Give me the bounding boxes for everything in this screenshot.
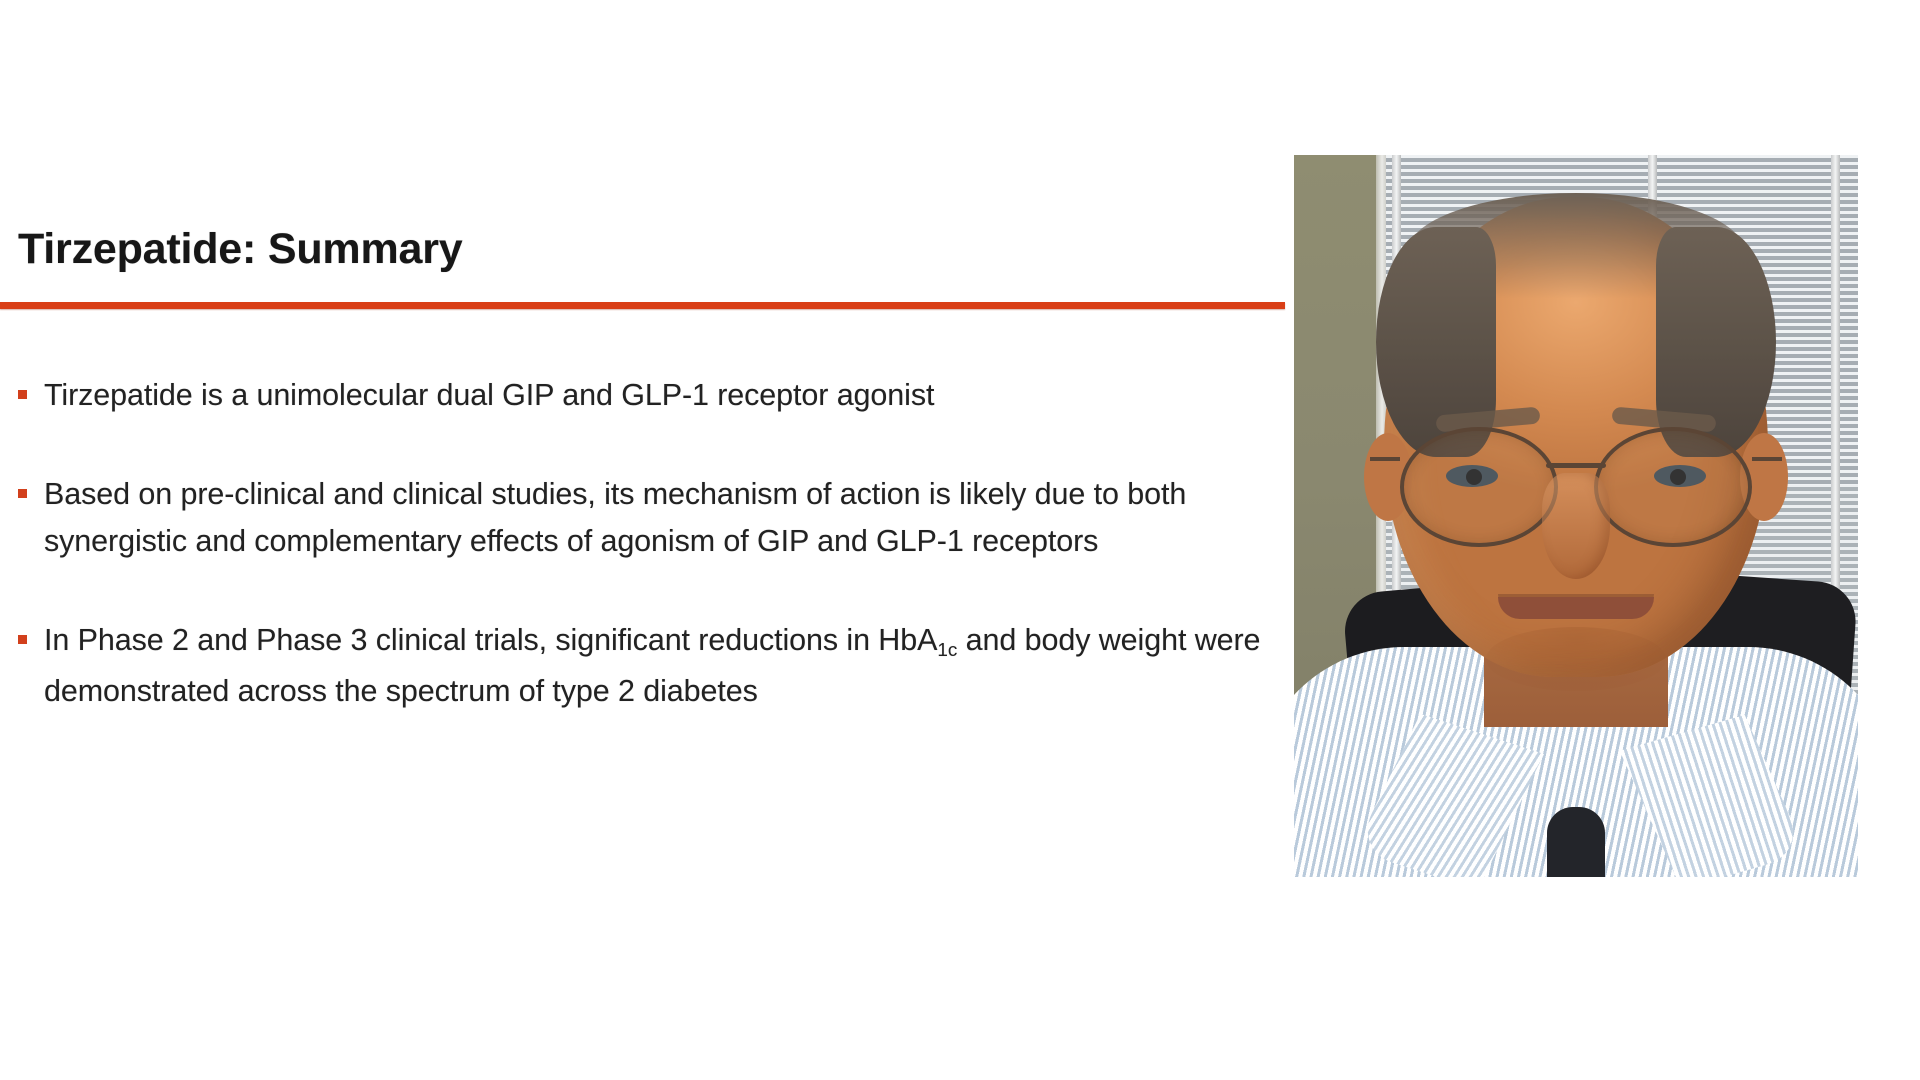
presenter-head: [1384, 197, 1768, 677]
nose: [1542, 473, 1610, 579]
eyeglass-lens-left: [1400, 427, 1558, 547]
list-item: Based on pre-clinical and clinical studi…: [14, 471, 1264, 565]
page-title: Tirzepatide: Summary: [18, 228, 462, 271]
title-underline-rule: [0, 302, 1285, 309]
hba1c-subscript: 1c: [937, 640, 957, 661]
eyeglass-bridge: [1546, 463, 1606, 468]
list-item-text-before: Based on pre-clinical and clinical studi…: [44, 477, 1186, 558]
list-item-text-before: In Phase 2 and Phase 3 clinical trials, …: [44, 623, 937, 657]
square-bullet-icon: [18, 635, 27, 644]
list-item: Tirzepatide is a unimolecular dual GIP a…: [14, 372, 1264, 419]
eyeglass-temple-left: [1370, 457, 1400, 461]
shirt-collar-opening: [1547, 807, 1605, 877]
mouth: [1498, 597, 1654, 619]
list-item-text: In Phase 2 and Phase 3 clinical trials, …: [44, 623, 1260, 708]
shirt-collar-left: [1354, 714, 1544, 877]
square-bullet-icon: [18, 390, 27, 399]
list-item-text-before: Tirzepatide is a unimolecular dual GIP a…: [44, 378, 934, 412]
presentation-stage: Tirzepatide: Summary Tirzepatide is a un…: [0, 0, 1920, 1080]
chin-shading: [1486, 627, 1666, 691]
presenter-video-panel[interactable]: [1294, 155, 1858, 877]
shirt-collar-right: [1620, 715, 1807, 877]
list-item: In Phase 2 and Phase 3 clinical trials, …: [14, 617, 1264, 715]
slide-content-area: Tirzepatide: Summary Tirzepatide is a un…: [0, 150, 1290, 940]
square-bullet-icon: [18, 489, 27, 498]
bullet-list: Tirzepatide is a unimolecular dual GIP a…: [14, 372, 1264, 715]
list-item-text: Based on pre-clinical and clinical studi…: [44, 477, 1186, 558]
eyeglass-lens-right: [1594, 427, 1752, 547]
eyeglass-temple-right: [1752, 457, 1782, 461]
presenter-video-frame: [1294, 155, 1858, 877]
list-item-text: Tirzepatide is a unimolecular dual GIP a…: [44, 378, 934, 412]
